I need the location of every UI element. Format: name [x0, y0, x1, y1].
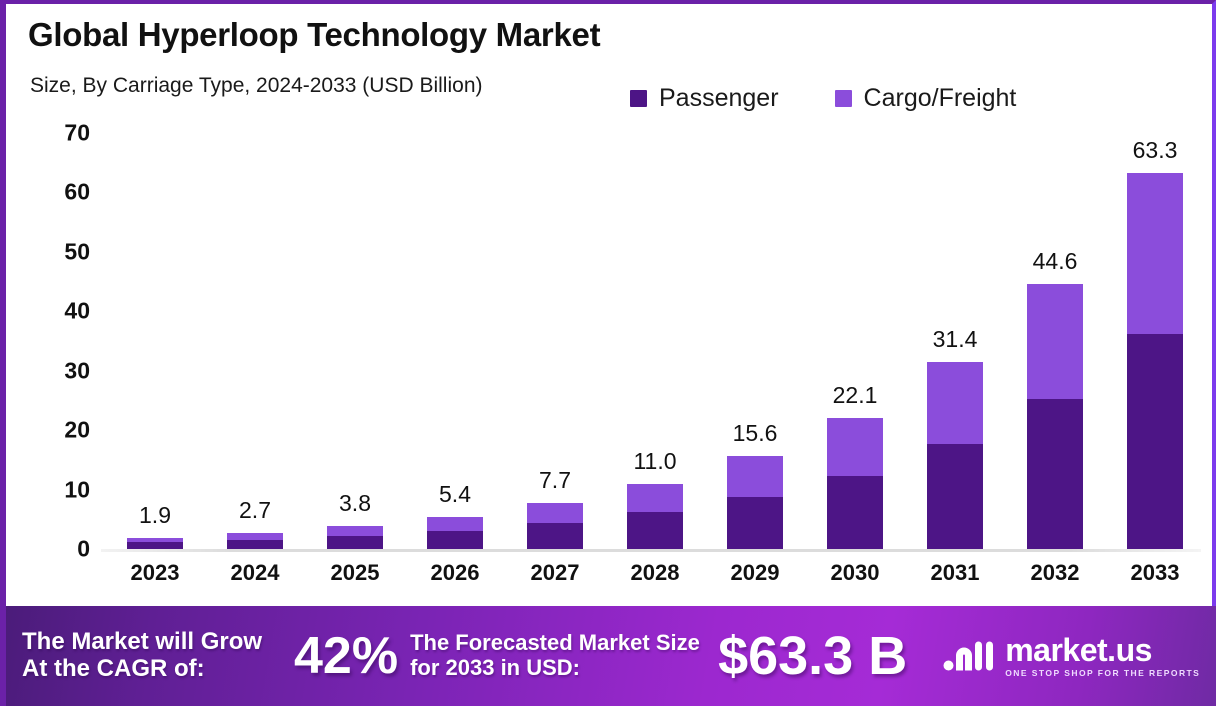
bar-value-label: 3.8: [339, 490, 371, 517]
bar-segment-passenger[interactable]: [827, 476, 883, 549]
bar-segment-passenger[interactable]: [327, 536, 383, 549]
bar-group[interactable]: 44.6: [1027, 284, 1083, 549]
bar-value-label: 15.6: [733, 420, 778, 447]
y-axis-tick: 60: [64, 179, 90, 206]
forecast-block: The Forecasted Market Size for 2033 in U…: [398, 625, 907, 687]
y-axis-tick: 0: [77, 536, 90, 563]
x-axis-label: 2031: [910, 560, 1000, 586]
bar-segment-passenger[interactable]: [1027, 399, 1083, 549]
y-axis-tick: 70: [64, 120, 90, 147]
bar-segment-cargo-freight[interactable]: [627, 484, 683, 512]
x-axis-label: 2023: [110, 560, 200, 586]
bar-group[interactable]: 11.0: [627, 484, 683, 549]
bar-segment-passenger[interactable]: [1127, 334, 1183, 549]
x-axis-label: 2030: [810, 560, 900, 586]
bar-group[interactable]: 1.9: [127, 538, 183, 549]
bar-segment-passenger[interactable]: [527, 523, 583, 549]
bar-value-label: 63.3: [1133, 137, 1178, 164]
bar-segment-cargo-freight[interactable]: [427, 517, 483, 531]
bar-value-label: 44.6: [1033, 248, 1078, 275]
x-axis-label: 2026: [410, 560, 500, 586]
y-axis-tick: 20: [64, 417, 90, 444]
chart-plot-area: 706050403020100 1.92.73.85.47.711.015.62…: [6, 4, 1216, 604]
bar-segment-passenger[interactable]: [127, 542, 183, 549]
summary-banner: The Market will Grow At the CAGR of: 42%…: [6, 606, 1216, 706]
bar-group[interactable]: 3.8: [327, 526, 383, 549]
y-axis-tick: 50: [64, 238, 90, 265]
bar-group[interactable]: 15.6: [727, 456, 783, 549]
market-us-logo-icon: [943, 639, 995, 673]
forecast-caption: The Forecasted Market Size for 2033 in U…: [410, 631, 710, 680]
x-axis-labels: 2023202420252026202720282029203020312032…: [101, 560, 1206, 596]
bar-group[interactable]: 31.4: [927, 362, 983, 549]
bar-group[interactable]: 5.4: [427, 517, 483, 549]
bar-group[interactable]: 2.7: [227, 533, 283, 549]
cagr-value: 42%: [294, 626, 398, 686]
logo-tagline: ONE STOP SHOP FOR THE REPORTS: [1005, 668, 1200, 678]
bar-value-label: 5.4: [439, 481, 471, 508]
x-axis-label: 2025: [310, 560, 400, 586]
bar-segment-cargo-freight[interactable]: [927, 362, 983, 444]
x-axis-label: 2033: [1110, 560, 1200, 586]
cagr-block: The Market will Grow At the CAGR of: 42%: [6, 626, 398, 686]
bar-segment-cargo-freight[interactable]: [727, 456, 783, 496]
bar-segment-cargo-freight[interactable]: [827, 418, 883, 476]
bar-segment-passenger[interactable]: [427, 531, 483, 549]
y-axis-tick: 30: [64, 357, 90, 384]
y-axis: 706050403020100: [6, 4, 106, 604]
x-axis-label: 2032: [1010, 560, 1100, 586]
bar-segment-passenger[interactable]: [627, 512, 683, 549]
bar-series-container: 1.92.73.85.47.711.015.622.131.444.663.3: [101, 4, 1206, 604]
bar-segment-passenger[interactable]: [927, 444, 983, 549]
bar-value-label: 31.4: [933, 326, 978, 353]
bar-value-label: 22.1: [833, 382, 878, 409]
x-axis-label: 2029: [710, 560, 800, 586]
bar-value-label: 1.9: [139, 502, 171, 529]
bar-segment-passenger[interactable]: [227, 540, 283, 550]
bar-group[interactable]: 63.3: [1127, 173, 1183, 549]
bar-segment-cargo-freight[interactable]: [1027, 284, 1083, 399]
bar-segment-cargo-freight[interactable]: [527, 503, 583, 523]
bar-segment-passenger[interactable]: [727, 497, 783, 549]
y-axis-tick: 10: [64, 476, 90, 503]
bar-segment-cargo-freight[interactable]: [1127, 173, 1183, 334]
bar-value-label: 11.0: [633, 448, 676, 475]
market-us-logo[interactable]: market.us ONE STOP SHOP FOR THE REPORTS: [943, 634, 1200, 678]
y-axis-tick: 40: [64, 298, 90, 325]
x-axis-label: 2024: [210, 560, 300, 586]
bar-value-label: 7.7: [539, 467, 571, 494]
market-us-logo-text: market.us ONE STOP SHOP FOR THE REPORTS: [1005, 634, 1200, 678]
bar-group[interactable]: 22.1: [827, 418, 883, 549]
logo-wordmark: market.us: [1005, 634, 1200, 666]
x-axis-label: 2028: [610, 560, 700, 586]
forecast-value: $63.3 B: [718, 625, 907, 687]
bar-segment-cargo-freight[interactable]: [327, 526, 383, 536]
x-axis-label: 2027: [510, 560, 600, 586]
cagr-caption: The Market will Grow At the CAGR of:: [22, 629, 290, 683]
chart-poster: Global Hyperloop Technology Market Size,…: [0, 0, 1216, 706]
bar-group[interactable]: 7.7: [527, 503, 583, 549]
bar-value-label: 2.7: [239, 497, 271, 524]
